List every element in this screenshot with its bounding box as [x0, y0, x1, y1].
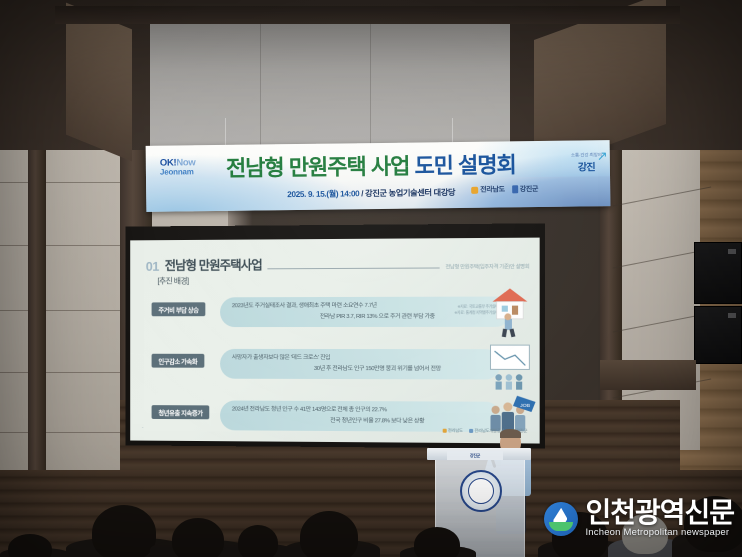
newspaper-watermark: 인천광역신문 Incheon Metropolitan newspaper: [544, 499, 734, 539]
ceiling-frame-beam: [55, 6, 680, 24]
slide-row-2: 인구감소 가속화 사망자가 출생자보다 많은 '데드 크로스' 진입 30년 후…: [130, 349, 539, 380]
slide-section-title: 전남형 만원주택사업: [165, 254, 262, 273]
slide-row-3-label: 청년유출 지속증가: [152, 405, 210, 419]
slide-row-3-line1: 2024년 전라남도 청년 인구 수 41만 143명으로 전체 총 인구의 2…: [232, 407, 387, 414]
slide-row-3-line2: 전국 청년인구 비율 27.8% 보다 낮은 상황: [232, 415, 503, 428]
slide-header-rule: [268, 267, 439, 269]
slide-row-3-text: 2024년 전라남도 청년 인구 수 41만 143명으로 전체 총 인구의 2…: [232, 405, 503, 428]
footer-logo-jeonnam-label: 전라남도: [448, 428, 463, 434]
org-logo-gangjin-label: 강진군: [520, 184, 539, 194]
declining-chart-people-icon: [482, 337, 537, 392]
svg-text:JOB: JOB: [520, 403, 531, 409]
banner-venue: / 강진군 농업기술센터 대강당: [359, 188, 455, 198]
org-logo-jeonnam-label: 전라남도: [480, 184, 505, 194]
podium-nameplate-text: 강진군: [470, 453, 480, 459]
ceiling-panel-group: [150, 16, 510, 148]
right-ledge: [600, 360, 696, 390]
banner-title: 전남형 만원주택 사업 도민 설명회: [206, 147, 536, 183]
slide-row-1-line1: 2023년도 주거실태조사 결과, 생애최초 주택 마련 소요연수 7.7년: [232, 303, 377, 309]
banner-title-blue: 도민 설명회: [414, 152, 516, 178]
watermark-text: 인천광역신문 Incheon Metropolitan newspaper: [585, 499, 734, 539]
wall-speaker-lower: [694, 306, 742, 364]
banner-date: 2025. 9. 15.(월) 14:00: [287, 189, 359, 199]
gangjin-county-emblem-icon: [460, 470, 502, 512]
slide-row-2-label: 인구감소 가속화: [152, 354, 205, 368]
slide-header: 01 전남형 만원주택사업 전남형 만원주택(입주자격 기준)안 설명회: [146, 253, 530, 274]
banner-title-green: 전남형 만원주택 사업: [226, 154, 410, 181]
slide-section-number: 01: [146, 259, 159, 274]
presenter-hair: [500, 429, 521, 438]
watermark-english: Incheon Metropolitan newspaper: [585, 527, 734, 539]
development-corp-icon: [469, 429, 473, 433]
banner-org-logos: 전라남도 강진군: [471, 184, 538, 195]
slide-header-right-note: 전남형 만원주택(입주자격 기준)안 설명회: [445, 263, 529, 270]
logo-jeonnam-text: Jeonnam: [160, 168, 196, 177]
projection-screen-frame: 01 전남형 만원주택사업 전남형 만원주택(입주자격 기준)안 설명회 [추진…: [125, 223, 544, 448]
photo-scene: OK!Now Jeonnam 전남형 만원주택 사업 도민 설명회 2025. …: [0, 0, 742, 557]
slide-row-2-text: 사망자가 출생자보다 많은 '데드 크로스' 진입 30년 후 전라남도 인구 …: [232, 353, 503, 375]
gangjin-emblem-icon: [512, 185, 518, 193]
ok-now-jeonnam-logo: OK!Now Jeonnam: [160, 158, 196, 177]
event-banner: OK!Now Jeonnam 전남형 만원주택 사업 도민 설명회 2025. …: [146, 140, 611, 212]
banner-string-left: [225, 118, 226, 146]
org-logo-jeonnam: 전라남도: [471, 184, 505, 194]
banner-gangjin-badge: 소통·건강·희망의 강진 ↗: [571, 152, 602, 173]
gangjin-swoosh-icon: ↗: [597, 148, 608, 164]
slide-subheading: [추진 배경]: [157, 276, 188, 287]
person-carrying-house-icon: [482, 284, 537, 339]
org-logo-gangjin: 강진군: [512, 184, 539, 194]
ceiling-side-left: [66, 3, 132, 162]
footer-logo-jeonnam: 전라남도: [442, 428, 462, 434]
slide-row-2-line2: 30년 후 전라남도 인구 150만명 붕괴 위기를 넘어서 전망: [232, 364, 503, 376]
incheon-news-logo-icon: [544, 502, 578, 536]
jeonnam-emblem-icon: [471, 186, 478, 193]
emblem-inner: [468, 478, 494, 504]
slide-row-2-line1: 사망자가 출생자보다 많은 '데드 크로스' 진입: [232, 355, 330, 361]
slide-row-1: 주거비 부담 상승 2023년도 주거실태조사 결과, 생애최초 주택 마련 소…: [130, 296, 539, 327]
presentation-slide: 01 전남형 만원주택사업 전남형 만원주택(입주자격 기준)안 설명회 [추진…: [130, 238, 539, 444]
slide-row-1-label: 주거비 부담 상승: [152, 302, 206, 316]
watermark-korean: 인천광역신문: [585, 499, 734, 527]
podium-nameplate: 강진군: [447, 451, 503, 460]
wall-speaker-upper: [694, 242, 742, 304]
slide-page-marker: -: [142, 425, 144, 431]
projection-screen: 01 전남형 만원주택사업 전남형 만원주택(입주자격 기준)안 설명회 [추진…: [130, 238, 539, 444]
slide-row-1-text: 2023년도 주거실태조사 결과, 생애최초 주택 마련 소요연수 7.7년 전…: [232, 301, 503, 323]
jeonnam-emblem-icon: [442, 429, 446, 433]
